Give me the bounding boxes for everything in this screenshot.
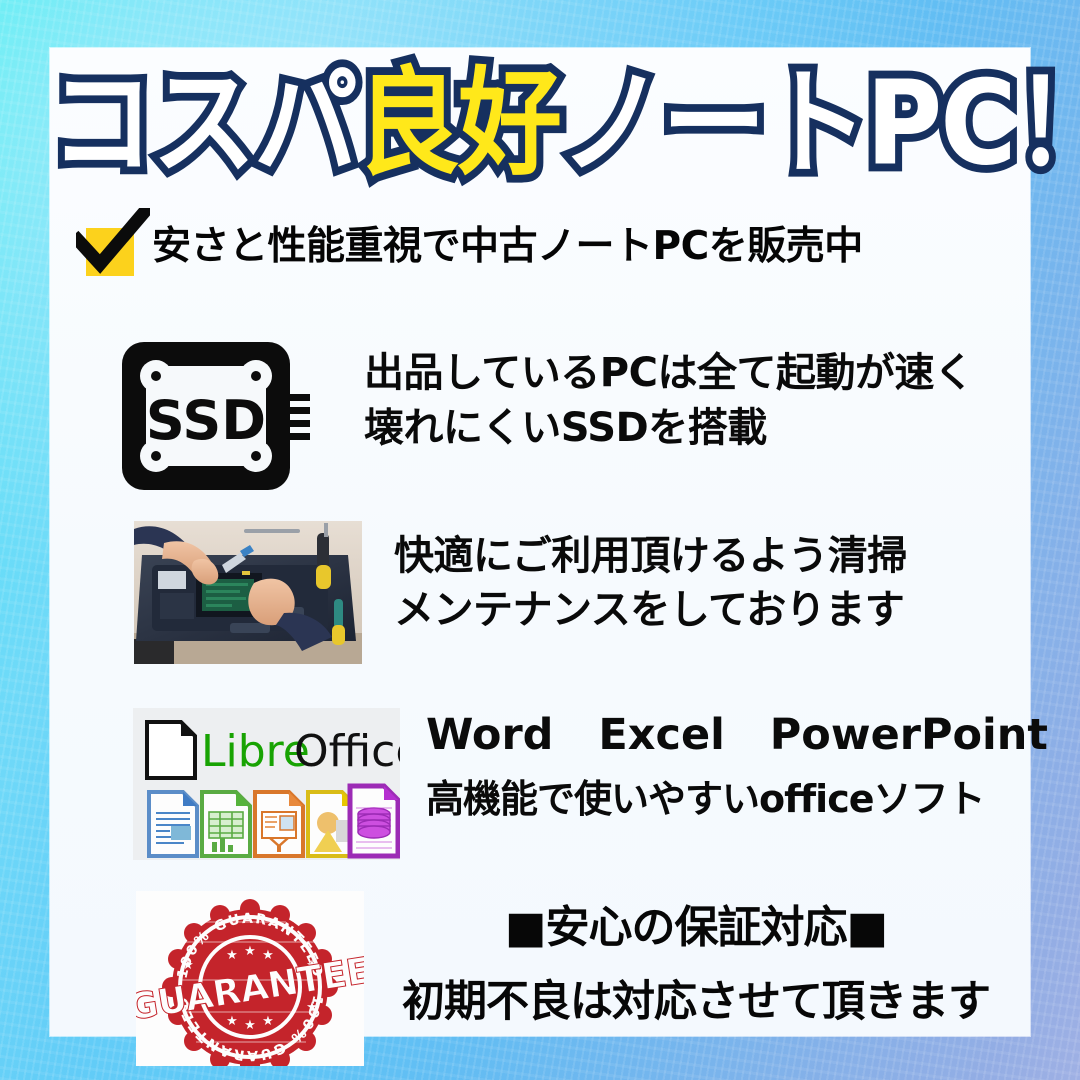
- svg-text:SSD: SSD: [146, 389, 266, 452]
- svg-text:★: ★: [244, 1018, 256, 1033]
- title-part-1: コスパ: [50, 55, 356, 192]
- svg-text:★: ★: [262, 1014, 274, 1029]
- svg-text:★: ★: [226, 1014, 238, 1029]
- feature-row-guarantee: 100% GUARANTEED 100% GUARANTEED ★ ★ ★ ★ …: [136, 891, 1080, 1066]
- title-text: コスパ良好ノートPC！: [50, 64, 1080, 183]
- office-apps-line: Word Excel PowerPoint: [426, 710, 1048, 760]
- ssd-drive-icon: SSD: [120, 336, 312, 496]
- office-sub-line: 高機能で使いやすいofficeソフト: [426, 768, 1048, 823]
- title-part-3: ノートPC！: [560, 55, 1080, 192]
- ssd-line-1: 出品しているPCは全て起動が速く: [364, 346, 973, 401]
- app-powerpoint-label: PowerPoint: [770, 710, 1048, 760]
- poster-canvas: コスパ良好ノートPC！ 安さと性能重視で中古ノートPCを販売中: [0, 0, 1080, 1080]
- svg-text:★: ★: [182, 958, 194, 973]
- maintenance-row-text: 快適にご利用頂けるよう清掃 メンテナンスをしております: [394, 529, 907, 638]
- check-square-icon: [78, 216, 146, 276]
- ssd-line-2: 壊れにくいSSDを搭載: [364, 401, 973, 456]
- svg-text:★: ★: [244, 944, 256, 959]
- content-card: コスパ良好ノートPC！ 安さと性能重視で中古ノートPCを販売中: [50, 48, 1030, 1036]
- guarantee-text-block: ■安心の保証対応■ 初期不良は対応させて頂きます: [376, 891, 1016, 1029]
- guarantee-line-1: ■安心の保証対応■: [376, 891, 1016, 955]
- title-part-2: 良好: [356, 55, 560, 192]
- app-word-label: Word: [426, 710, 553, 760]
- ssd-row-text: 出品しているPCは全て起動が速く 壊れにくいSSDを搭載: [364, 346, 973, 456]
- feature-row-ssd: SSD 出品しているPCは全て起動が速く 壊れにくいSSDを搭載: [120, 336, 1070, 496]
- feature-row-maintenance: 快適にご利用頂けるよう清掃 メンテナンスをしております: [134, 521, 1074, 664]
- app-excel-label: Excel: [598, 710, 725, 760]
- feature-row-check: 安さと性能重視で中古ノートPCを販売中: [78, 216, 1008, 276]
- svg-text:★: ★: [226, 948, 238, 963]
- office-text-block: Word Excel PowerPoint 高機能で使いやすいofficeソフト: [426, 710, 1048, 823]
- maintenance-line-1: 快適にご利用頂けるよう清掃: [394, 529, 907, 583]
- page-title: コスパ良好ノートPC！: [50, 70, 1030, 176]
- libreoffice-logo: Libre Office: [133, 708, 400, 860]
- check-row-text: 安さと性能重視で中古ノートPCを販売中: [152, 227, 863, 266]
- svg-text:Office: Office: [294, 726, 400, 777]
- guarantee-stamp: 100% GUARANTEED 100% GUARANTEED ★ ★ ★ ★ …: [136, 891, 364, 1066]
- check-mark-glyph: [76, 208, 150, 280]
- feature-row-office: Libre Office: [133, 708, 1080, 860]
- laptop-repair-photo: [134, 521, 362, 664]
- guarantee-line-2: 初期不良は対応させて頂きます: [376, 967, 1016, 1029]
- svg-text:★: ★: [262, 948, 274, 963]
- maintenance-line-2: メンテナンスをしております: [394, 583, 907, 637]
